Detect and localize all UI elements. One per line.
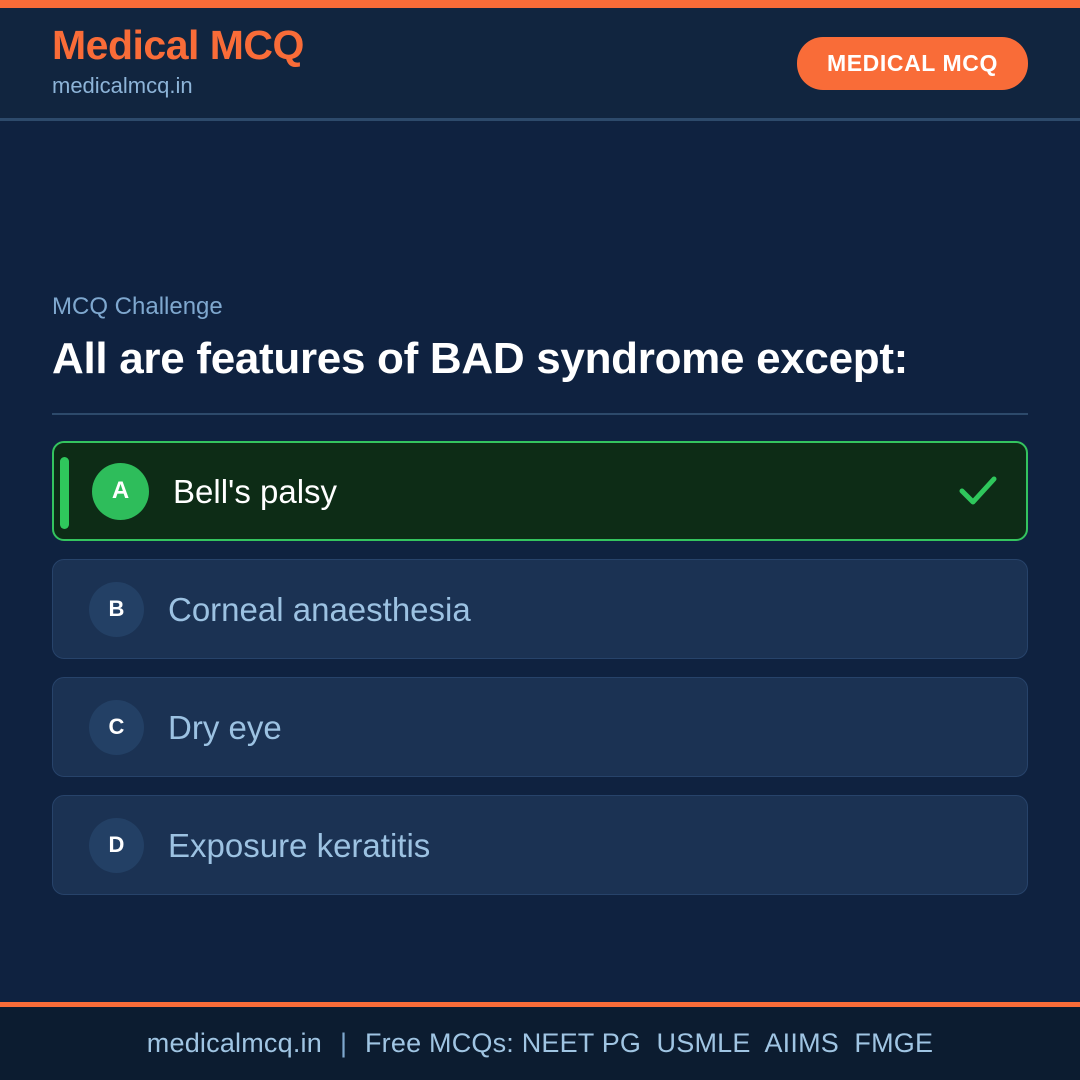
options-list: A Bell's palsy B Corneal anaesthesia C D…	[52, 441, 1028, 895]
brand: Medical MCQ medicalmcq.in	[52, 24, 304, 102]
option-a-letter: A	[92, 463, 149, 520]
brand-url: medicalmcq.in	[52, 69, 304, 102]
header: Medical MCQ medicalmcq.in MEDICAL MCQ	[0, 8, 1080, 121]
question-kicker: MCQ Challenge	[52, 293, 1028, 322]
brand-title: Medical MCQ	[52, 24, 304, 67]
option-a-label: Bell's palsy	[173, 472, 337, 512]
question-text: All are features of BAD syndrome except:	[52, 332, 1028, 386]
option-c[interactable]: C Dry eye	[52, 677, 1028, 777]
footer-separator: |	[322, 1028, 365, 1059]
footer-site: medicalmcq.in	[147, 1028, 322, 1059]
footer: medicalmcq.in | Free MCQs: NEET PG USMLE…	[0, 1007, 1080, 1080]
option-d[interactable]: D Exposure keratitis	[52, 795, 1028, 895]
option-b[interactable]: B Corneal anaesthesia	[52, 559, 1028, 659]
option-d-letter: D	[89, 818, 144, 873]
brand-badge: MEDICAL MCQ	[797, 37, 1028, 90]
option-d-label: Exposure keratitis	[168, 826, 430, 866]
question-block: MCQ Challenge All are features of BAD sy…	[52, 293, 1028, 385]
option-a[interactable]: A Bell's palsy	[52, 441, 1028, 541]
main-content: MCQ Challenge All are features of BAD sy…	[0, 121, 1080, 1002]
check-icon	[958, 474, 998, 508]
mcq-card: Medical MCQ medicalmcq.in MEDICAL MCQ MC…	[0, 0, 1080, 1080]
option-b-letter: B	[89, 582, 144, 637]
option-b-label: Corneal anaesthesia	[168, 590, 471, 630]
question-divider	[52, 413, 1028, 415]
option-c-label: Dry eye	[168, 708, 282, 748]
footer-tags: Free MCQs: NEET PG USMLE AIIMS FMGE	[365, 1028, 933, 1059]
option-c-letter: C	[89, 700, 144, 755]
correct-accent-bar	[60, 457, 69, 529]
top-accent-bar	[0, 0, 1080, 8]
